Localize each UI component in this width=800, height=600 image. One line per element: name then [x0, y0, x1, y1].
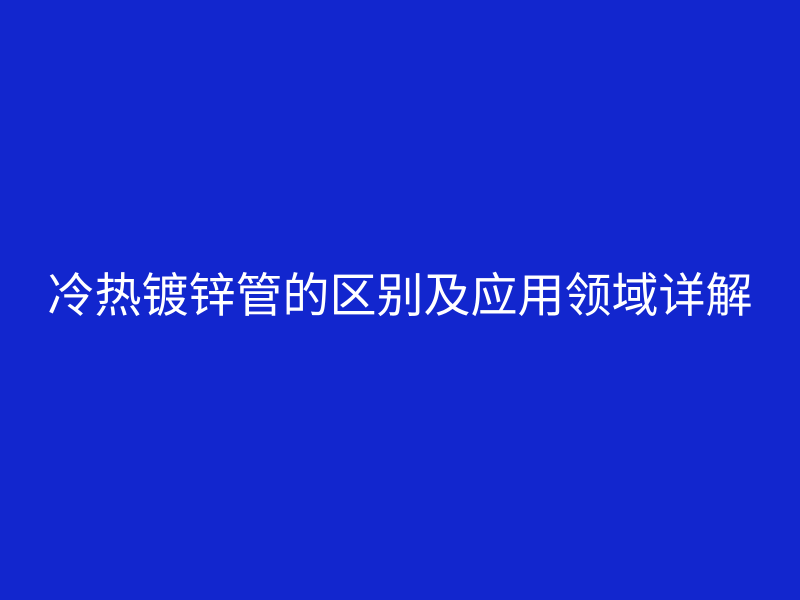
- title-card: 冷热镀锌管的区别及应用领域详解: [0, 0, 800, 600]
- title-block: 冷热镀锌管的区别及应用领域详解: [0, 269, 800, 325]
- page-title: 冷热镀锌管的区别及应用领域详解: [24, 269, 776, 325]
